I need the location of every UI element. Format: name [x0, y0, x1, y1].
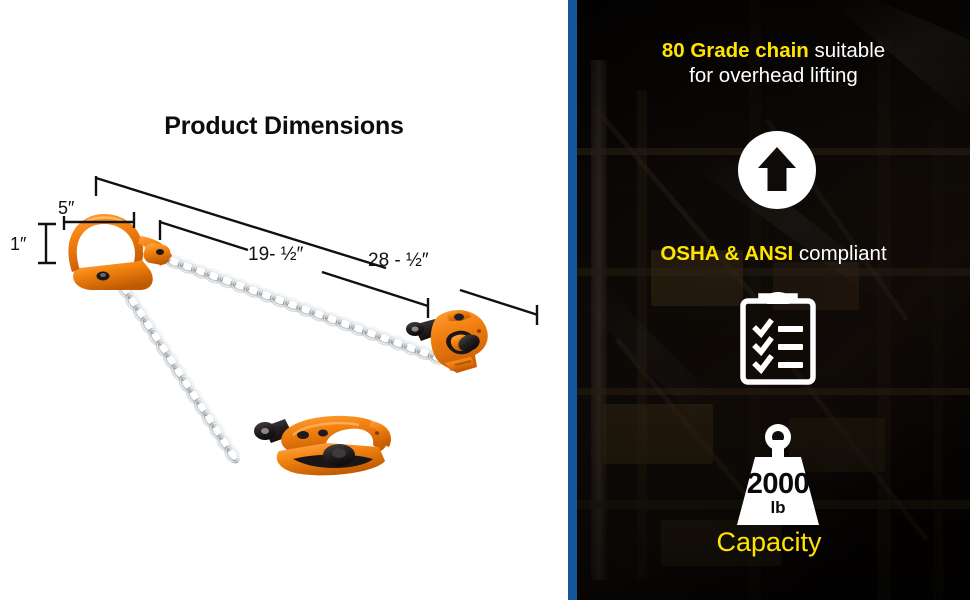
product-photo: [0, 0, 568, 600]
feature1-highlight: 80 Grade chain: [662, 39, 809, 62]
feature2-highlight: OSHA & ANSI: [660, 242, 793, 265]
dimension-label-1in: 1″: [10, 234, 26, 255]
product-infographic: Product Dimensions: [0, 0, 970, 600]
dimension-label-5in: 5″: [58, 198, 74, 219]
feature2-rest: compliant: [793, 242, 886, 265]
feature-compliance-text: OSHA & ANSI compliant: [577, 241, 970, 266]
dimension-label-28in: 28 - ½″: [368, 250, 429, 272]
capacity-value: 2000: [722, 468, 834, 501]
feature1-rest: suitable: [809, 39, 885, 62]
up-arrow-circle-icon: [738, 131, 816, 209]
drum-clamp-lower: [254, 416, 391, 475]
clipboard-checklist-icon: [737, 288, 819, 388]
blue-divider: [568, 0, 577, 600]
feature-overhead-lifting-text: 80 Grade chain suitable for overhead lif…: [577, 38, 970, 88]
capacity-label: Capacity: [568, 527, 970, 558]
capacity-unit: lb: [722, 498, 834, 518]
chain-lower: [109, 268, 241, 464]
master-link: [68, 214, 172, 290]
dimensions-panel: Product Dimensions: [0, 0, 568, 600]
dimension-label-19in: 19- ½″: [248, 244, 303, 266]
feature1-line2: for overhead lifting: [689, 64, 858, 87]
drum-clamp-upper: [406, 310, 488, 373]
